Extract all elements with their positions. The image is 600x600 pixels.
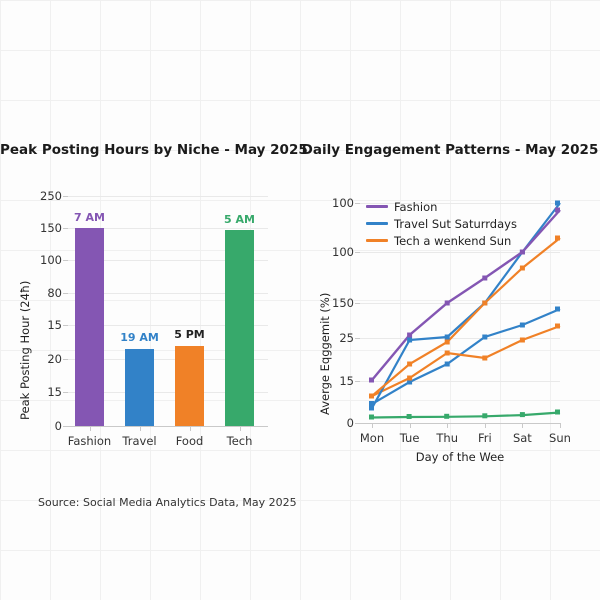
gridline	[68, 196, 268, 197]
x-tick-mark	[522, 423, 523, 428]
y-tick-mark	[63, 392, 68, 393]
bar-value-label-travel: 19 AM	[120, 331, 159, 344]
y-tick-mark	[63, 426, 68, 427]
legend-swatch-blue	[366, 222, 388, 225]
legend-item-travel[interactable]: Travel Sut Saturrdays	[366, 215, 517, 232]
series-line-orange-upper	[372, 238, 560, 396]
legend-label: Tech a wenkend Sun	[394, 234, 511, 248]
bar-chart-x-tick-label: Food	[176, 434, 204, 448]
figure-canvas: Peak Posting Hours by Niche - May 2025 P…	[0, 0, 600, 600]
x-tick-mark	[410, 423, 411, 428]
line-chart-x-tick-label: Sat	[513, 431, 532, 445]
bar-tech[interactable]	[225, 230, 254, 426]
y-tick-mark	[355, 338, 360, 339]
line-chart-x-axis-label: Day of the Wee	[360, 450, 560, 464]
line-chart-y-axis-label: Averge Eqggemit (%)	[318, 293, 332, 415]
x-tick-mark	[90, 426, 91, 431]
legend-label: Travel Sut Saturrdays	[394, 217, 517, 231]
legend-label: Fashion	[394, 200, 437, 214]
y-tick-mark	[63, 359, 68, 360]
bar-chart-y-tick-label: 150	[28, 221, 62, 235]
bar-food[interactable]	[175, 346, 204, 426]
y-tick-mark	[63, 293, 68, 294]
bar-value-label-tech: 5 AM	[224, 213, 255, 226]
legend-item-fashion[interactable]: Fashion	[366, 198, 517, 215]
x-tick-mark	[447, 423, 448, 428]
y-tick-mark	[63, 228, 68, 229]
bar-travel[interactable]	[125, 349, 154, 426]
x-tick-mark	[485, 423, 486, 428]
y-tick-mark	[63, 196, 68, 197]
legend-swatch-purple	[366, 205, 388, 208]
bar-chart-y-tick-label: 15	[28, 318, 62, 332]
line-chart-x-axis	[360, 423, 560, 424]
bar-chart-y-tick-label: 250	[28, 189, 62, 203]
bar-chart-y-tick-label: 20	[28, 352, 62, 366]
line-chart-panel: Daily Engagement Patterns - May 2025 Ave…	[300, 130, 600, 480]
line-chart-x-tick-label: Sun	[549, 431, 571, 445]
y-tick-mark	[355, 381, 360, 382]
bar-chart-y-tick-label: 100	[28, 253, 62, 267]
bar-chart-x-tick-label: Tech	[227, 434, 253, 448]
bar-value-label-fashion: 7 AM	[74, 211, 105, 224]
y-tick-mark	[355, 303, 360, 304]
x-tick-mark	[140, 426, 141, 431]
bar-chart-title: Peak Posting Hours by Niche - May 2025	[0, 142, 300, 158]
bar-chart-plot-area: 7 AM 19 AM 5 PM 5 AM	[68, 196, 268, 426]
line-chart-x-tick-label: Fri	[478, 431, 492, 445]
line-chart-x-tick-label: Thu	[436, 431, 458, 445]
x-tick-mark	[560, 423, 561, 428]
x-tick-mark	[372, 423, 373, 428]
y-tick-mark	[355, 252, 360, 253]
line-chart-y-tick-label: 25	[320, 331, 354, 345]
line-chart-x-tick-label: Mon	[360, 431, 384, 445]
y-tick-mark	[355, 203, 360, 204]
line-chart-title: Daily Engagement Patterns - May 2025	[300, 142, 600, 158]
bar-chart-x-tick-label: Fashion	[68, 434, 111, 448]
bar-chart-y-axis-label: Peak Posting Hour (24ħ)	[18, 281, 32, 420]
bar-chart-y-tick-label: 15	[28, 385, 62, 399]
y-tick-mark	[63, 325, 68, 326]
y-tick-mark	[355, 423, 360, 424]
line-chart-y-tick-label: 100	[320, 196, 354, 210]
legend-swatch-orange	[366, 239, 388, 242]
bar-chart-y-tick-label: 0	[28, 419, 62, 433]
source-note: Source: Social Media Analytics Data, May…	[38, 496, 297, 509]
bar-chart-x-axis	[68, 426, 268, 427]
series-line-green	[372, 413, 560, 418]
line-chart-plot-area: Fashion Travel Sut Saturrdays Tech a wen…	[360, 196, 560, 423]
bar-chart-panel: Peak Posting Hours by Niche - May 2025 P…	[0, 130, 300, 480]
line-chart-legend: Fashion Travel Sut Saturrdays Tech a wen…	[366, 198, 517, 249]
line-chart-y-tick-label: 150	[320, 296, 354, 310]
x-tick-mark	[190, 426, 191, 431]
y-tick-mark	[63, 260, 68, 261]
legend-item-tech[interactable]: Tech a wenkend Sun	[366, 232, 517, 249]
bar-chart-y-tick-label: 80	[28, 286, 62, 300]
bar-value-label-food: 5 PM	[174, 328, 205, 341]
bar-chart-x-tick-label: Travel	[122, 434, 156, 448]
line-chart-y-tick-label: 100	[320, 245, 354, 259]
line-chart-y-tick-label: 0	[320, 416, 354, 430]
series-line-orange-lower	[372, 326, 560, 396]
line-chart-x-tick-label: Tue	[400, 431, 420, 445]
x-tick-mark	[240, 426, 241, 431]
bar-fashion[interactable]	[75, 228, 104, 426]
line-chart-y-tick-label: 15	[320, 374, 354, 388]
